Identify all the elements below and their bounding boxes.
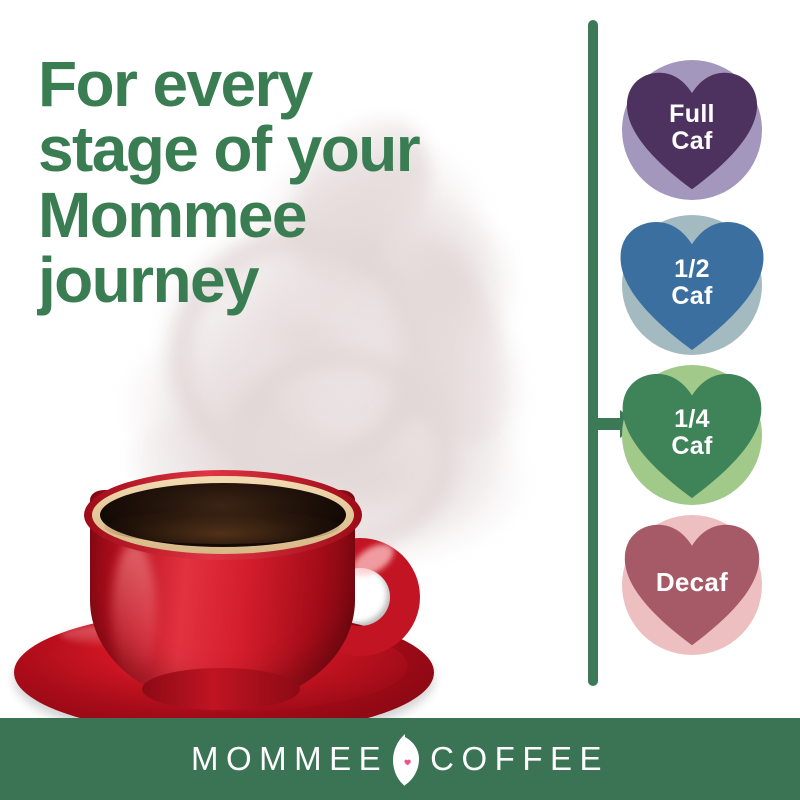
pregnant-silhouette-icon (390, 733, 424, 787)
promo-graphic: For every stage of your Mommee journey F… (0, 0, 800, 800)
cup-highlight (112, 542, 156, 682)
badge-quarter-caf[interactable]: 1/4 Caf (622, 365, 762, 505)
coffee-cup-illustration (0, 470, 450, 760)
badge-half-caf[interactable]: 1/2 Caf (622, 215, 762, 355)
cup-foot (142, 668, 300, 710)
brand-word-mommee: MOMMEE (191, 740, 388, 778)
vertical-timeline-line (588, 20, 598, 686)
badge-label: Full Caf (622, 60, 762, 200)
badge-full-caf[interactable]: Full Caf (622, 60, 762, 200)
brand-logo: MOMMEE COFFEE (0, 718, 800, 800)
headline: For every stage of your Mommee journey (38, 52, 583, 313)
brand-word-coffee: COFFEE (430, 740, 609, 778)
badge-decaf[interactable]: Decaf (622, 515, 762, 655)
coffee-crema (104, 510, 340, 544)
badge-label: 1/4 Caf (622, 365, 762, 505)
badge-label: Decaf (622, 515, 762, 655)
badge-label: 1/2 Caf (622, 215, 762, 355)
